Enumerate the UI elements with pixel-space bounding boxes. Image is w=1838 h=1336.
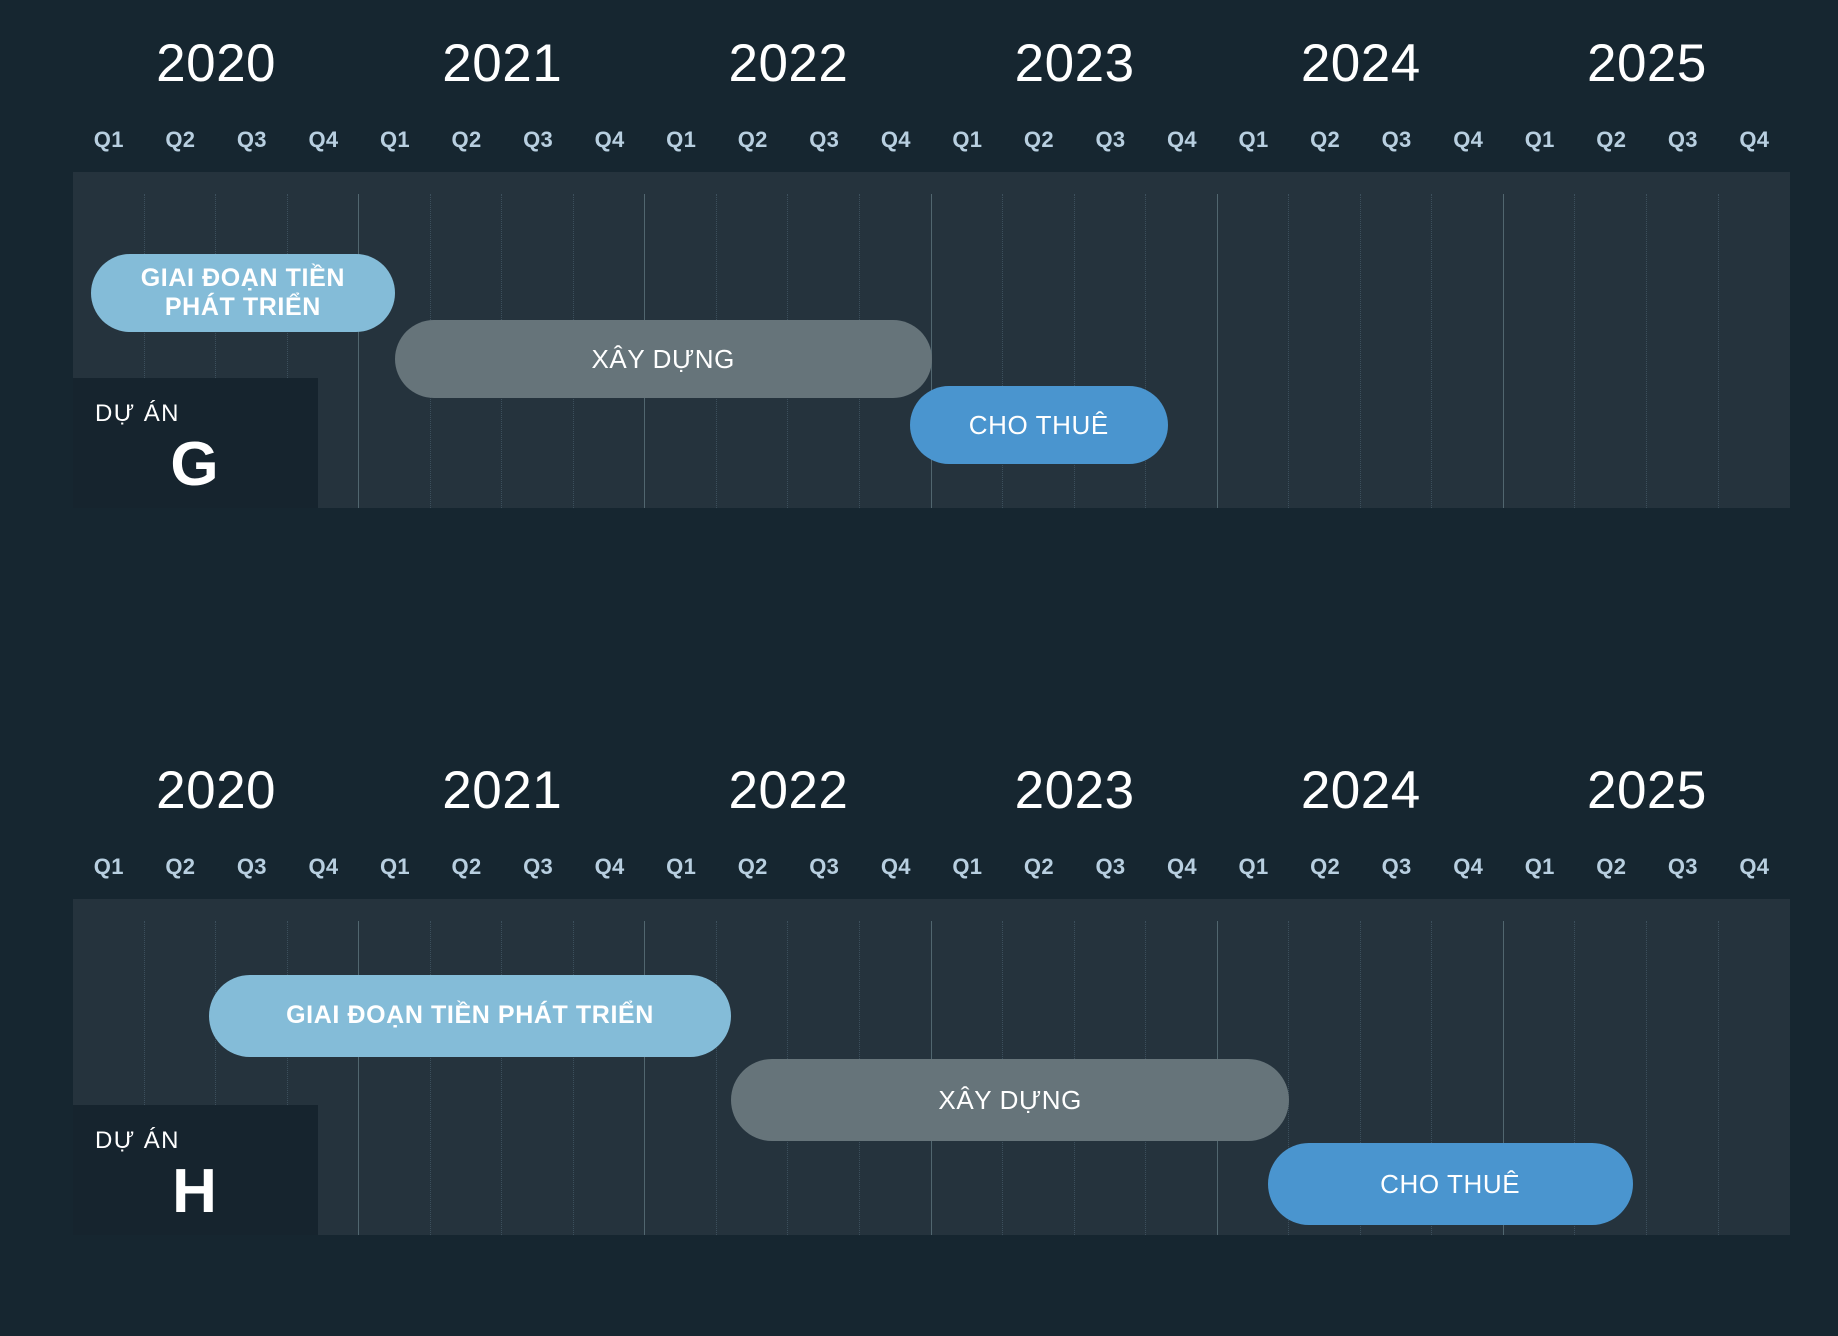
quarter-label-9-h: Q2: [717, 852, 789, 882]
timeline-header-g: 202020212022202320242025 Q1Q2Q3Q4Q1Q2Q3Q…: [0, 0, 1838, 172]
gantt-chart-project-g: 202020212022202320242025 Q1Q2Q3Q4Q1Q2Q3Q…: [0, 0, 1838, 508]
year-label-2024-g: 2024: [1218, 28, 1504, 100]
gridline-6-h: [502, 899, 574, 1235]
project-label-h: DỰ ÁN H: [73, 1105, 318, 1235]
gantt-bar-label-wrap-g: GIAI ĐOẠN TIỀNPHÁT TRIỂN: [141, 264, 345, 323]
gantt-bar-label-predevelopment-g: GIAI ĐOẠN TIỀN: [141, 264, 345, 292]
quarter-label-10-g: Q3: [788, 125, 860, 155]
quarter-label-11-g: Q4: [860, 125, 932, 155]
year-label-2022-h: 2022: [645, 755, 931, 827]
project-label-text-h: DỰ ÁN: [95, 1127, 294, 1155]
year-label-2022-g: 2022: [645, 28, 931, 100]
quarter-label-6-h: Q3: [502, 852, 574, 882]
plot-area-g: GIAI ĐOẠN TIỀNPHÁT TRIỂNXÂY DỰNGCHO THUÊ…: [73, 172, 1790, 508]
quarter-label-16-g: Q1: [1218, 125, 1290, 155]
gantt-bar-label-leasing-h: CHO THUÊ: [1380, 1169, 1520, 1200]
year-label-2024-h: 2024: [1218, 755, 1504, 827]
quarter-label-7-h: Q4: [574, 852, 646, 882]
year-axis-g: 202020212022202320242025: [73, 28, 1790, 100]
quarter-label-2-h: Q3: [216, 852, 288, 882]
gridline-17-g: [1289, 172, 1361, 508]
project-label-g: DỰ ÁN G: [73, 378, 318, 508]
gridline-16-g: [1218, 172, 1290, 508]
quarter-label-22-g: Q3: [1647, 125, 1719, 155]
quarter-label-20-g: Q1: [1504, 125, 1576, 155]
quarter-label-9-g: Q2: [717, 125, 789, 155]
gridline-22-h: [1647, 899, 1719, 1235]
quarter-label-8-h: Q1: [645, 852, 717, 882]
gridline-23-g: [1719, 172, 1791, 508]
quarter-label-16-h: Q1: [1218, 852, 1290, 882]
gantt-bar-leasing-g[interactable]: CHO THUÊ: [910, 386, 1168, 464]
quarter-label-13-g: Q2: [1003, 125, 1075, 155]
quarter-label-11-h: Q4: [860, 852, 932, 882]
gantt-chart-project-h: 202020212022202320242025 Q1Q2Q3Q4Q1Q2Q3Q…: [0, 727, 1838, 1235]
quarter-label-18-h: Q3: [1361, 852, 1433, 882]
quarter-label-23-g: Q4: [1719, 125, 1791, 155]
quarter-label-2-g: Q3: [216, 125, 288, 155]
gridline-21-g: [1575, 172, 1647, 508]
quarter-label-15-g: Q4: [1146, 125, 1218, 155]
gridline-18-g: [1361, 172, 1433, 508]
quarter-axis-h: Q1Q2Q3Q4Q1Q2Q3Q4Q1Q2Q3Q4Q1Q2Q3Q4Q1Q2Q3Q4…: [73, 852, 1790, 882]
gantt-bar-label-construction-g: XÂY DỰNG: [591, 344, 735, 375]
quarter-label-19-g: Q4: [1432, 125, 1504, 155]
quarter-label-21-g: Q2: [1575, 125, 1647, 155]
quarter-label-1-h: Q2: [145, 852, 217, 882]
year-axis-h: 202020212022202320242025: [73, 755, 1790, 827]
quarter-label-15-h: Q4: [1146, 852, 1218, 882]
quarter-label-12-h: Q1: [932, 852, 1004, 882]
gantt-bar-label2-predevelopment-g: PHÁT TRIỂN: [165, 293, 321, 321]
quarter-label-5-h: Q2: [431, 852, 503, 882]
quarter-label-8-g: Q1: [645, 125, 717, 155]
quarter-label-7-g: Q4: [574, 125, 646, 155]
plot-area-h: GIAI ĐOẠN TIỀN PHÁT TRIỂNXÂY DỰNGCHO THU…: [73, 899, 1790, 1235]
quarter-label-4-g: Q1: [359, 125, 431, 155]
quarter-label-5-g: Q2: [431, 125, 503, 155]
quarter-label-0-h: Q1: [73, 852, 145, 882]
quarter-label-14-h: Q3: [1075, 852, 1147, 882]
quarter-label-6-g: Q3: [502, 125, 574, 155]
quarter-label-12-g: Q1: [932, 125, 1004, 155]
quarter-label-22-h: Q3: [1647, 852, 1719, 882]
quarter-label-20-h: Q1: [1504, 852, 1576, 882]
year-label-2023-g: 2023: [932, 28, 1218, 100]
quarter-label-1-g: Q2: [145, 125, 217, 155]
gridline-23-h: [1719, 899, 1791, 1235]
quarter-label-21-h: Q2: [1575, 852, 1647, 882]
gantt-bar-construction-g[interactable]: XÂY DỰNG: [395, 320, 932, 398]
quarter-label-14-g: Q3: [1075, 125, 1147, 155]
gridline-15-g: [1146, 172, 1218, 508]
gantt-bar-label-predevelopment-h: GIAI ĐOẠN TIỀN PHÁT TRIỂN: [286, 1001, 654, 1031]
quarter-label-3-h: Q4: [288, 852, 360, 882]
quarter-label-3-g: Q4: [288, 125, 360, 155]
project-label-text-g: DỰ ÁN: [95, 400, 294, 428]
quarter-label-10-h: Q3: [788, 852, 860, 882]
quarter-label-19-h: Q4: [1432, 852, 1504, 882]
quarter-label-17-g: Q2: [1289, 125, 1361, 155]
quarter-label-23-h: Q4: [1719, 852, 1791, 882]
gantt-bar-construction-h[interactable]: XÂY DỰNG: [731, 1059, 1289, 1141]
gridline-4-h: [359, 899, 431, 1235]
quarter-label-17-h: Q2: [1289, 852, 1361, 882]
quarter-label-0-g: Q1: [73, 125, 145, 155]
gridline-8-h: [645, 899, 717, 1235]
year-label-2025-g: 2025: [1504, 28, 1790, 100]
project-code-h: H: [95, 1157, 294, 1227]
project-code-g: G: [95, 430, 294, 500]
gantt-bar-predevelopment-h[interactable]: GIAI ĐOẠN TIỀN PHÁT TRIỂN: [209, 975, 731, 1057]
gantt-bar-predevelopment-g[interactable]: GIAI ĐOẠN TIỀNPHÁT TRIỂN: [91, 254, 395, 332]
gantt-bar-label-leasing-g: CHO THUÊ: [969, 410, 1109, 441]
gantt-bar-leasing-h[interactable]: CHO THUÊ: [1268, 1143, 1633, 1225]
year-label-2025-h: 2025: [1504, 755, 1790, 827]
quarter-label-13-h: Q2: [1003, 852, 1075, 882]
year-label-2020-h: 2020: [73, 755, 359, 827]
gridline-22-g: [1647, 172, 1719, 508]
year-label-2021-g: 2021: [359, 28, 645, 100]
year-label-2023-h: 2023: [932, 755, 1218, 827]
quarter-label-4-h: Q1: [359, 852, 431, 882]
quarter-axis-g: Q1Q2Q3Q4Q1Q2Q3Q4Q1Q2Q3Q4Q1Q2Q3Q4Q1Q2Q3Q4…: [73, 125, 1790, 155]
year-label-2020-g: 2020: [73, 28, 359, 100]
gantt-bar-label-construction-h: XÂY DỰNG: [938, 1085, 1082, 1116]
gridline-20-g: [1504, 172, 1576, 508]
gridline-7-h: [574, 899, 646, 1235]
timeline-header-h: 202020212022202320242025 Q1Q2Q3Q4Q1Q2Q3Q…: [0, 727, 1838, 899]
quarter-label-18-g: Q3: [1361, 125, 1433, 155]
year-label-2021-h: 2021: [359, 755, 645, 827]
gridline-19-g: [1432, 172, 1504, 508]
gridline-5-h: [431, 899, 503, 1235]
